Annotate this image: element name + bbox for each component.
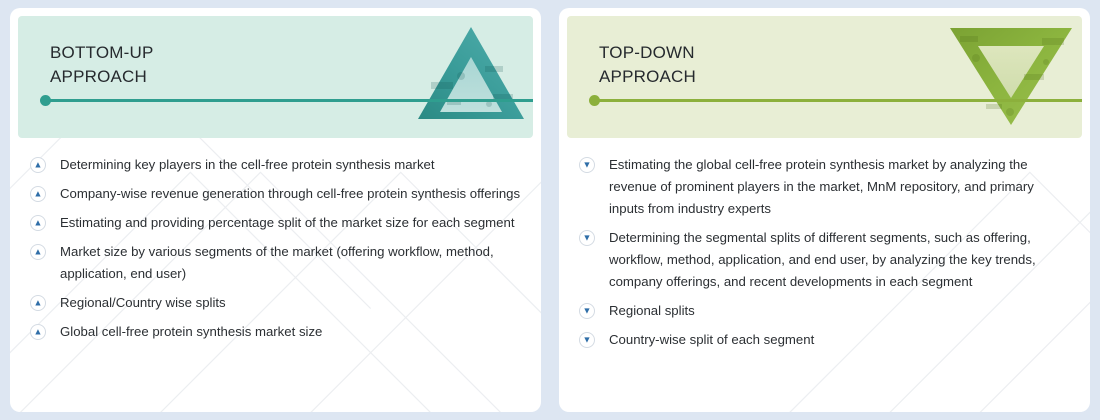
bullet-glyph: ▼	[583, 307, 592, 316]
triangle-up-bullet-icon: ▲	[30, 244, 46, 260]
accent-line	[597, 99, 1082, 102]
list-item-text: Regional/Country wise splits	[60, 295, 226, 310]
list-item-text: Company-wise revenue generation through …	[60, 186, 520, 201]
triangle-down-bullet-icon: ▼	[579, 303, 595, 319]
bullet-glyph: ▲	[34, 190, 43, 199]
list-item: ▲ Determining key players in the cell-fr…	[30, 154, 523, 176]
bullet-glyph: ▼	[583, 336, 592, 345]
list-item: ▲ Global cell-free protein synthesis mar…	[30, 321, 523, 343]
triangle-up-bullet-icon: ▲	[30, 157, 46, 173]
header-band-bottom-up: BOTTOM-UP APPROACH	[18, 16, 533, 138]
bullet-glyph: ▲	[34, 248, 43, 257]
triangle-down-bullet-icon: ▼	[579, 157, 595, 173]
list-item: ▲ Market size by various segments of the…	[30, 241, 523, 285]
list-item-text: Determining key players in the cell-free…	[60, 157, 435, 172]
list-item-text: Estimating and providing percentage spli…	[60, 215, 514, 230]
accent-rule-bottom-up	[40, 99, 533, 102]
list-item: ▼ Regional splits	[579, 300, 1072, 322]
bullet-glyph: ▼	[583, 161, 592, 170]
accent-rule-top-down	[589, 99, 1082, 102]
list-item-text: Regional splits	[609, 303, 695, 318]
panel-title-top-down: TOP-DOWN APPROACH	[599, 41, 696, 89]
list-item-text: Determining the segmental splits of diff…	[609, 230, 1036, 289]
bullet-glyph: ▲	[34, 219, 43, 228]
triangle-up-bullet-icon: ▲	[30, 215, 46, 231]
header-band-top-down: TOP-DOWN APPROACH	[567, 16, 1082, 138]
triangle-down-bullet-icon: ▼	[579, 230, 595, 246]
triangle-down-icon	[946, 24, 1076, 128]
list-item: ▲ Estimating and providing percentage sp…	[30, 212, 523, 234]
list-item-text: Estimating the global cell-free protein …	[609, 157, 1034, 216]
bullet-list-top-down: ▼ Estimating the global cell-free protei…	[559, 138, 1090, 351]
list-item: ▼ Estimating the global cell-free protei…	[579, 154, 1072, 220]
accent-line	[48, 99, 533, 102]
bullet-glyph: ▲	[34, 161, 43, 170]
list-item: ▼ Country-wise split of each segment	[579, 329, 1072, 351]
panel-bottom-up: BOTTOM-UP APPROACH	[10, 8, 541, 412]
list-item-text: Market size by various segments of the m…	[60, 244, 494, 281]
triangle-up-bullet-icon: ▲	[30, 324, 46, 340]
triangle-up-bullet-icon: ▲	[30, 186, 46, 202]
list-item-text: Global cell-free protein synthesis marke…	[60, 324, 322, 339]
panel-top-down: TOP-DOWN APPROACH	[559, 8, 1090, 412]
triangle-up-bullet-icon: ▲	[30, 295, 46, 311]
list-item-text: Country-wise split of each segment	[609, 332, 814, 347]
panel-title-bottom-up: BOTTOM-UP APPROACH	[50, 41, 154, 89]
approach-comparison-figure: BOTTOM-UP APPROACH	[0, 0, 1100, 420]
bullet-glyph: ▼	[583, 234, 592, 243]
bullet-glyph: ▲	[34, 299, 43, 308]
triangle-down-bullet-icon: ▼	[579, 332, 595, 348]
list-item: ▲ Company-wise revenue generation throug…	[30, 183, 523, 205]
triangle-up-icon	[417, 24, 525, 122]
bullet-list-bottom-up: ▲ Determining key players in the cell-fr…	[10, 138, 541, 343]
bullet-glyph: ▲	[34, 328, 43, 337]
list-item: ▲ Regional/Country wise splits	[30, 292, 523, 314]
list-item: ▼ Determining the segmental splits of di…	[579, 227, 1072, 293]
